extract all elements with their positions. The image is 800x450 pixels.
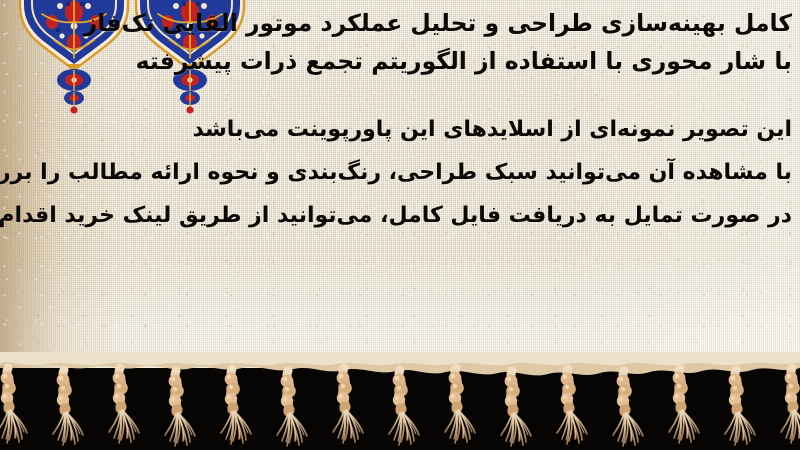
carpet-fringe — [0, 352, 800, 450]
title-line-1: کامل بهینه‌سازی طراحی و تحلیل عملکرد موت… — [22, 4, 792, 42]
title-line-2: با شار محوری با استفاده از الگوریتم تجمع… — [22, 42, 792, 80]
slide-title: کامل بهینه‌سازی طراحی و تحلیل عملکرد موت… — [22, 4, 792, 80]
body-line-3: در صورت تمایل به دریافت فایل کامل، می‌تو… — [10, 194, 792, 237]
body-line-1: این تصویر نمونه‌ای از اسلایدهای این پاور… — [10, 108, 792, 151]
text-layer: کامل بهینه‌سازی طراحی و تحلیل عملکرد موت… — [0, 0, 800, 390]
slide-canvas: کامل بهینه‌سازی طراحی و تحلیل عملکرد موت… — [0, 0, 800, 450]
slide-body: این تصویر نمونه‌ای از اسلایدهای این پاور… — [10, 108, 792, 237]
body-line-2: با مشاهده آن می‌توانید سبک طراحی، رنگ‌بن… — [10, 151, 792, 194]
